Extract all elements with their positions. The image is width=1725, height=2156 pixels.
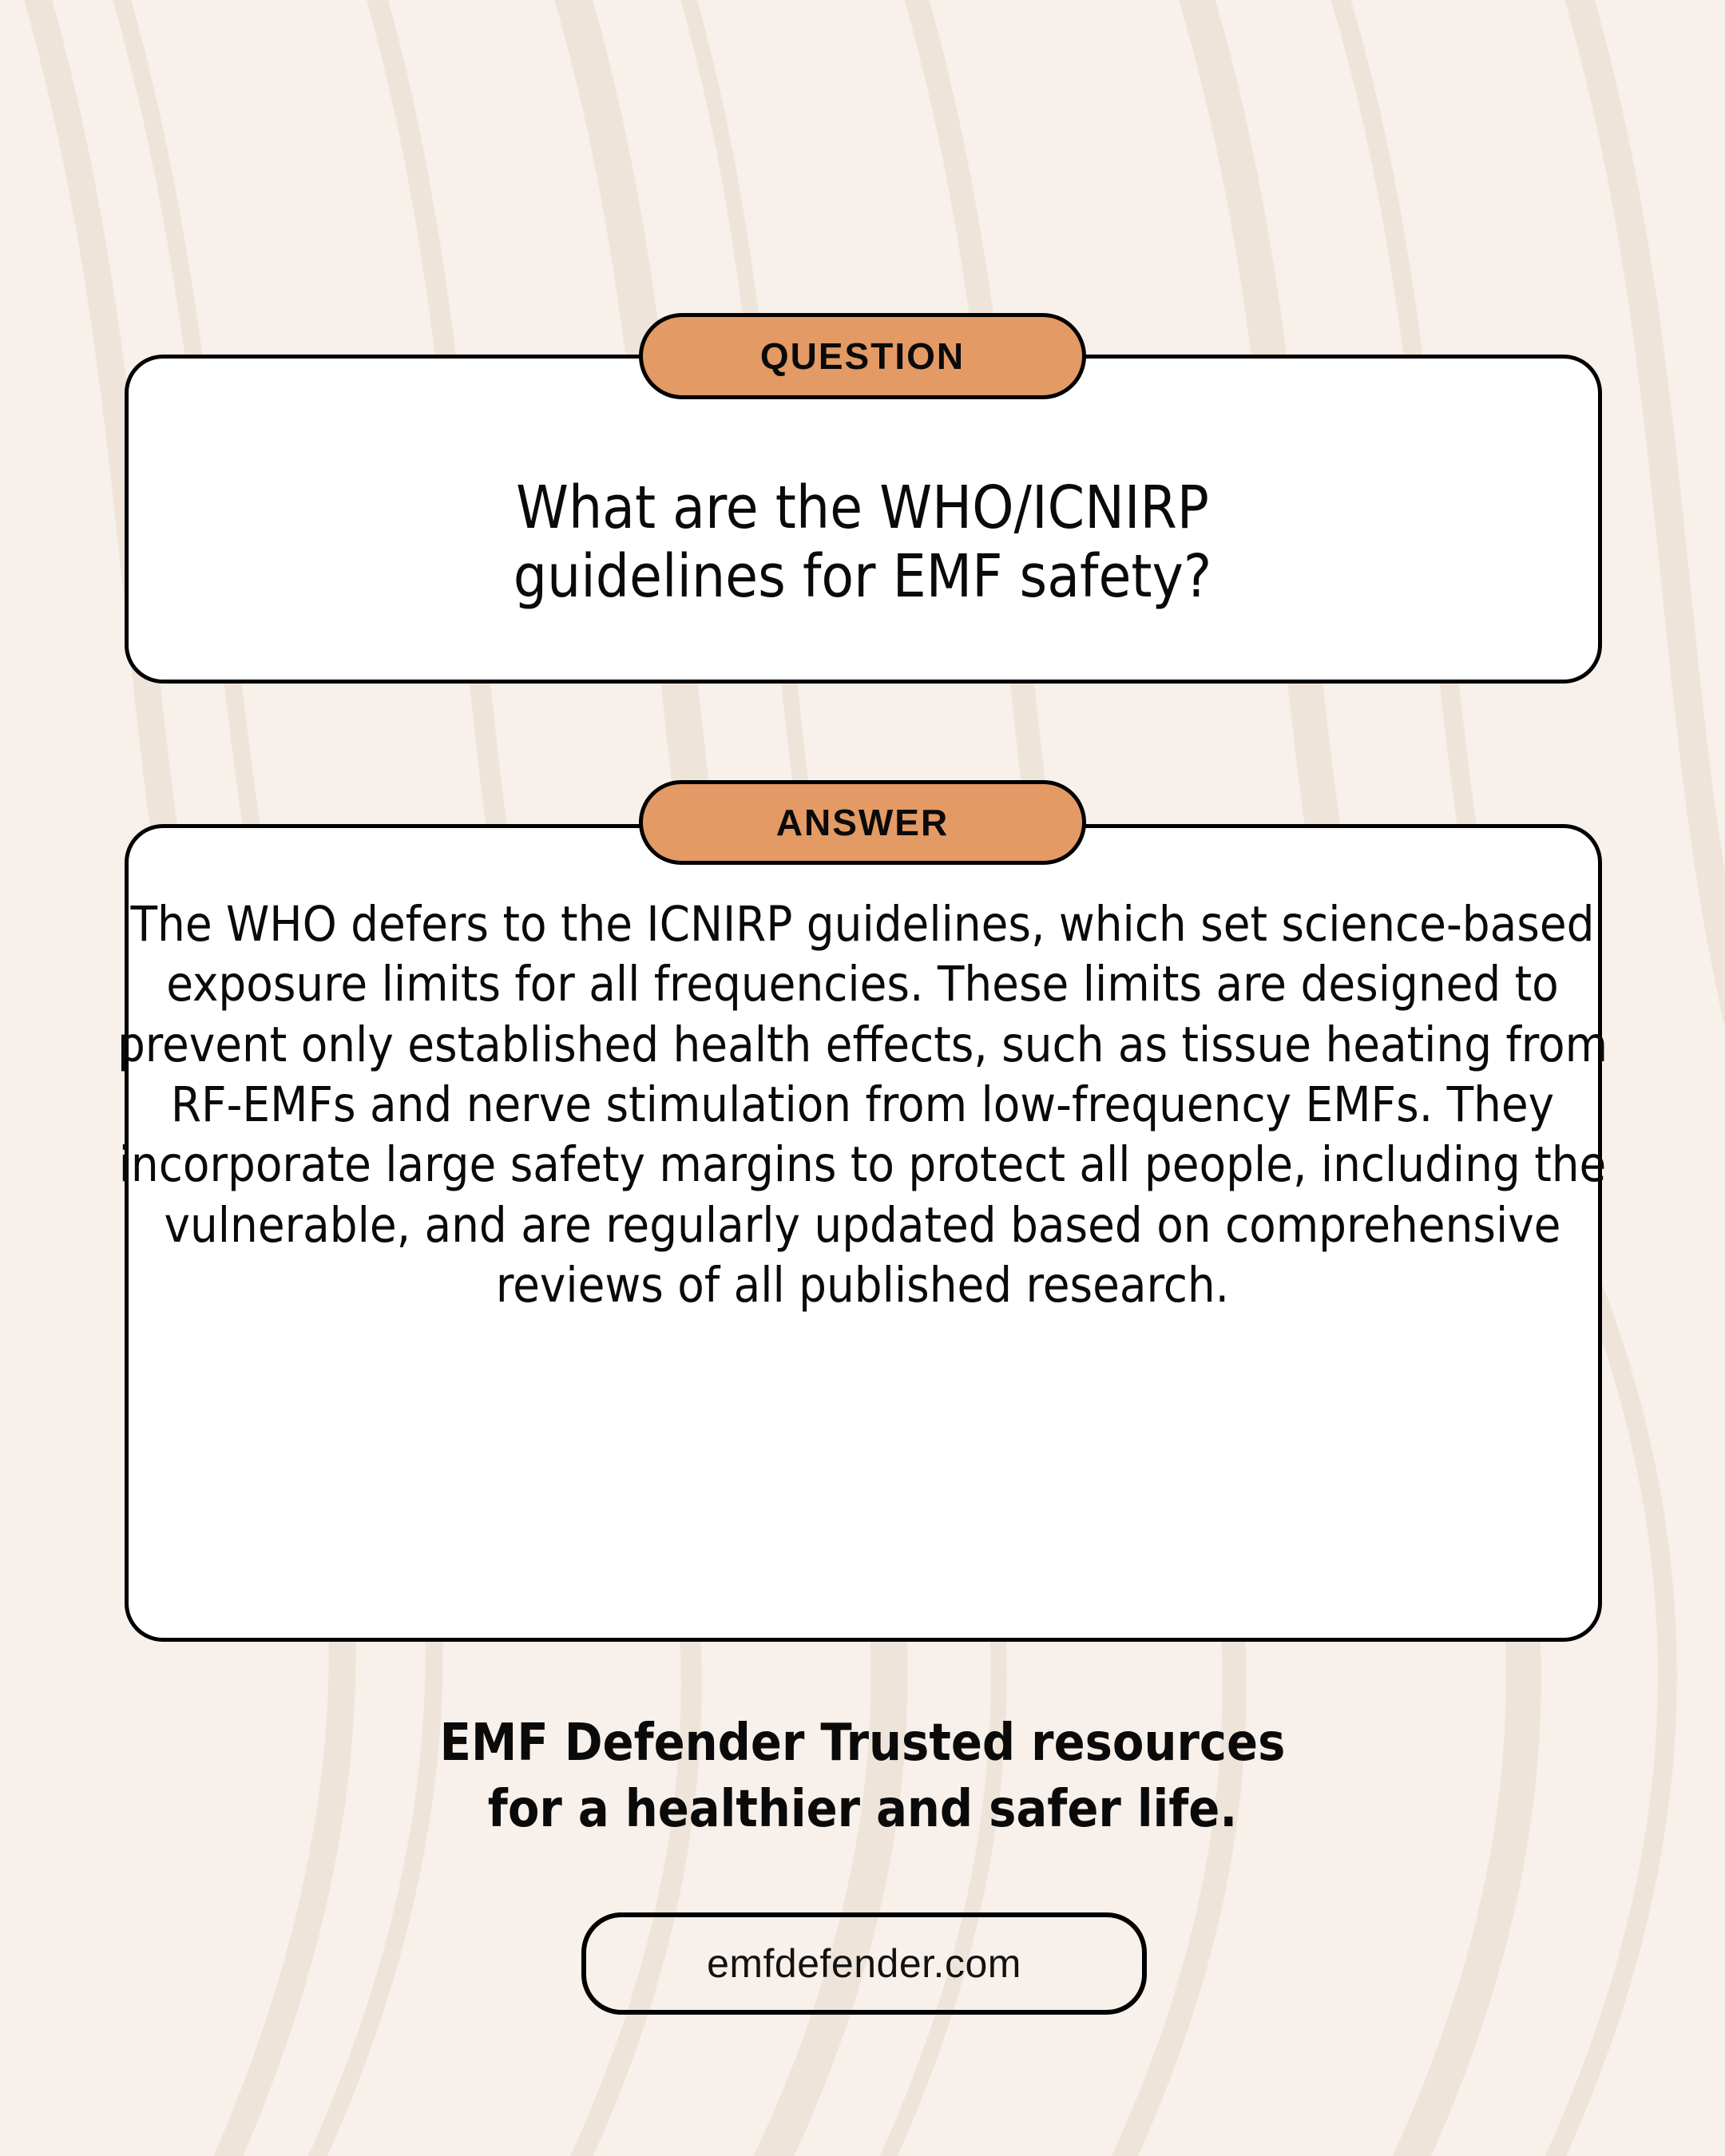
website-url-pill[interactable]: emfdefender.com (581, 1912, 1147, 2015)
answer-badge: ANSWER (639, 780, 1086, 865)
brand-tagline: EMF Defender Trusted resources for a hea… (0, 1710, 1725, 1843)
question-text: What are the WHO/ICNIRP guidelines for E… (0, 474, 1725, 612)
question-badge: QUESTION (639, 313, 1086, 399)
answer-text: The WHO defers to the ICNIRP guidelines,… (0, 894, 1725, 1315)
website-url-label: emfdefender.com (707, 1940, 1021, 1987)
